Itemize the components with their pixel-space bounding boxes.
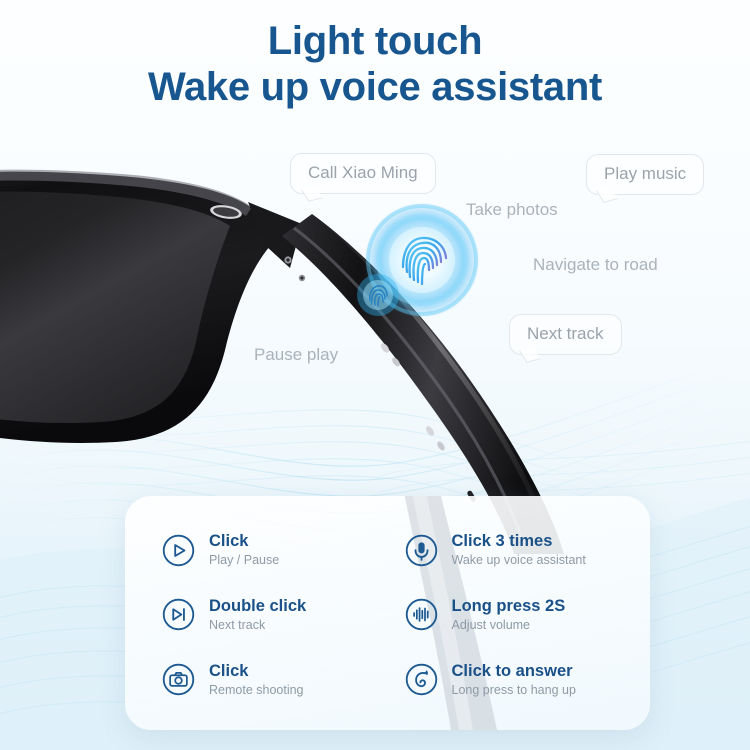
bubble-tail bbox=[596, 187, 618, 202]
sound-wave-icon bbox=[404, 597, 439, 632]
feature-subtitle: Next track bbox=[209, 618, 306, 633]
feature-click-3-times-voice-assistant: Click 3 times Wake up voice assistant bbox=[404, 518, 637, 583]
next-track-icon bbox=[161, 597, 196, 632]
feature-subtitle: Adjust volume bbox=[452, 618, 566, 633]
microphone-icon bbox=[404, 533, 439, 568]
phone-call-icon bbox=[404, 662, 439, 697]
headline-line-2: Wake up voice assistant bbox=[0, 64, 750, 110]
feature-click-play-pause: Click Play / Pause bbox=[161, 518, 394, 583]
feature-click-to-answer-call: Click to answer Long press to hang up bbox=[404, 647, 637, 712]
feature-title: Click bbox=[209, 532, 279, 551]
feature-click-remote-shooting: Click Remote shooting bbox=[161, 647, 394, 712]
feature-subtitle: Play / Pause bbox=[209, 553, 279, 568]
feature-title: Click bbox=[209, 662, 304, 681]
feature-double-click-next-track: Double click Next track bbox=[161, 583, 394, 648]
voice-command-call-xiao-ming: Call Xiao Ming bbox=[290, 153, 436, 194]
feature-title: Click to answer bbox=[452, 662, 576, 681]
product-marketing-image: Light touch Wake up voice assistant bbox=[0, 0, 750, 750]
feature-long-press-adjust-volume: Long press 2S Adjust volume bbox=[404, 583, 637, 648]
feature-subtitle: Remote shooting bbox=[209, 683, 304, 698]
feature-title: Double click bbox=[209, 597, 306, 616]
voice-command-pause-play: Pause play bbox=[254, 345, 338, 365]
voice-command-take-photos: Take photos bbox=[466, 200, 558, 220]
play-circle-icon bbox=[161, 533, 196, 568]
voice-command-navigate-to-road: Navigate to road bbox=[533, 255, 658, 275]
fingerprint-on-temple-icon bbox=[355, 272, 401, 318]
feature-subtitle: Wake up voice assistant bbox=[452, 553, 586, 568]
feature-subtitle: Long press to hang up bbox=[452, 683, 576, 698]
voice-command-play-music: Play music bbox=[586, 154, 704, 195]
voice-command-next-track: Next track bbox=[509, 314, 622, 355]
feature-title: Long press 2S bbox=[452, 597, 566, 616]
headline-line-1: Light touch bbox=[0, 18, 750, 64]
bubble-label: Next track bbox=[527, 324, 604, 343]
camera-icon bbox=[161, 662, 196, 697]
page-title: Light touch Wake up voice assistant bbox=[0, 18, 750, 111]
touch-controls-card: Click Play / Pause Click 3 times Wake up… bbox=[125, 496, 650, 730]
feature-title: Click 3 times bbox=[452, 532, 586, 551]
bubble-label: Play music bbox=[604, 164, 686, 183]
bubble-label: Call Xiao Ming bbox=[308, 163, 418, 182]
